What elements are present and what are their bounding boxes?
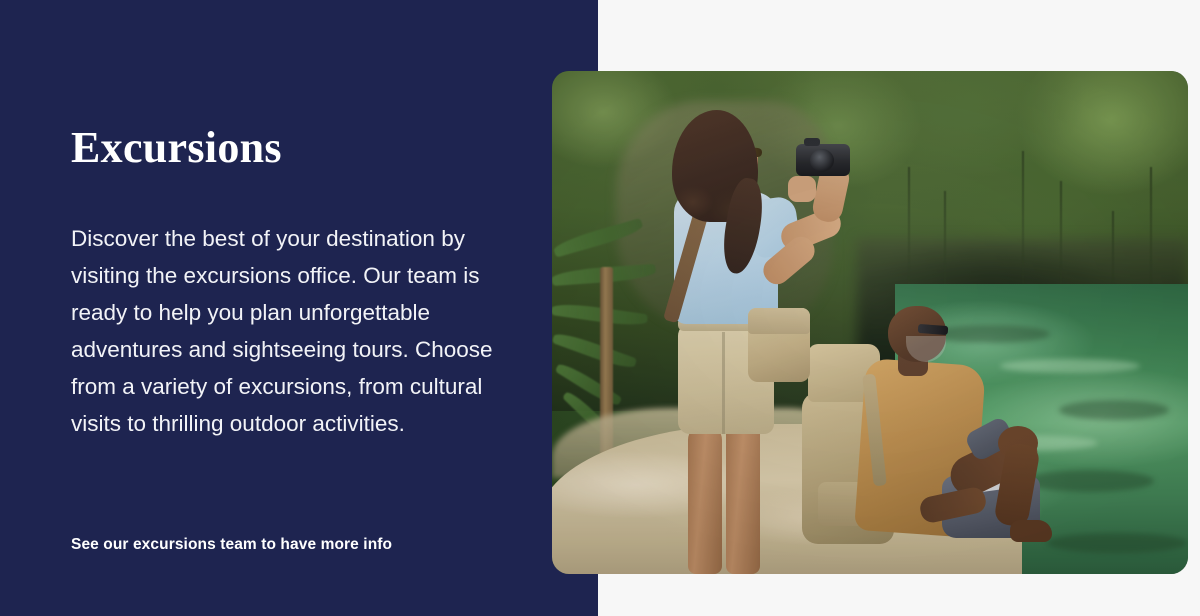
woman-left-hand — [788, 176, 816, 202]
woman-left-leg — [688, 424, 722, 574]
woman-right-leg — [726, 416, 760, 574]
photo-scene — [552, 71, 1188, 574]
excursions-description: Discover the best of your destination by… — [71, 220, 495, 442]
excursions-hero-photo — [552, 71, 1188, 574]
standing-woman-figure — [630, 104, 880, 574]
water-ripple — [1059, 400, 1169, 420]
woman-shoulder-bag — [748, 308, 810, 382]
camera — [796, 144, 850, 176]
man-foot — [1010, 520, 1052, 542]
page-root: Excursions Discover the best of your des… — [0, 0, 1200, 616]
water-ripple — [1048, 533, 1188, 553]
excursions-info-panel: Excursions Discover the best of your des… — [0, 0, 598, 616]
panel-content: Excursions Discover the best of your des… — [71, 0, 501, 616]
page-title: Excursions — [71, 122, 282, 174]
excursions-team-link[interactable]: See our excursions team to have more inf… — [71, 534, 392, 556]
